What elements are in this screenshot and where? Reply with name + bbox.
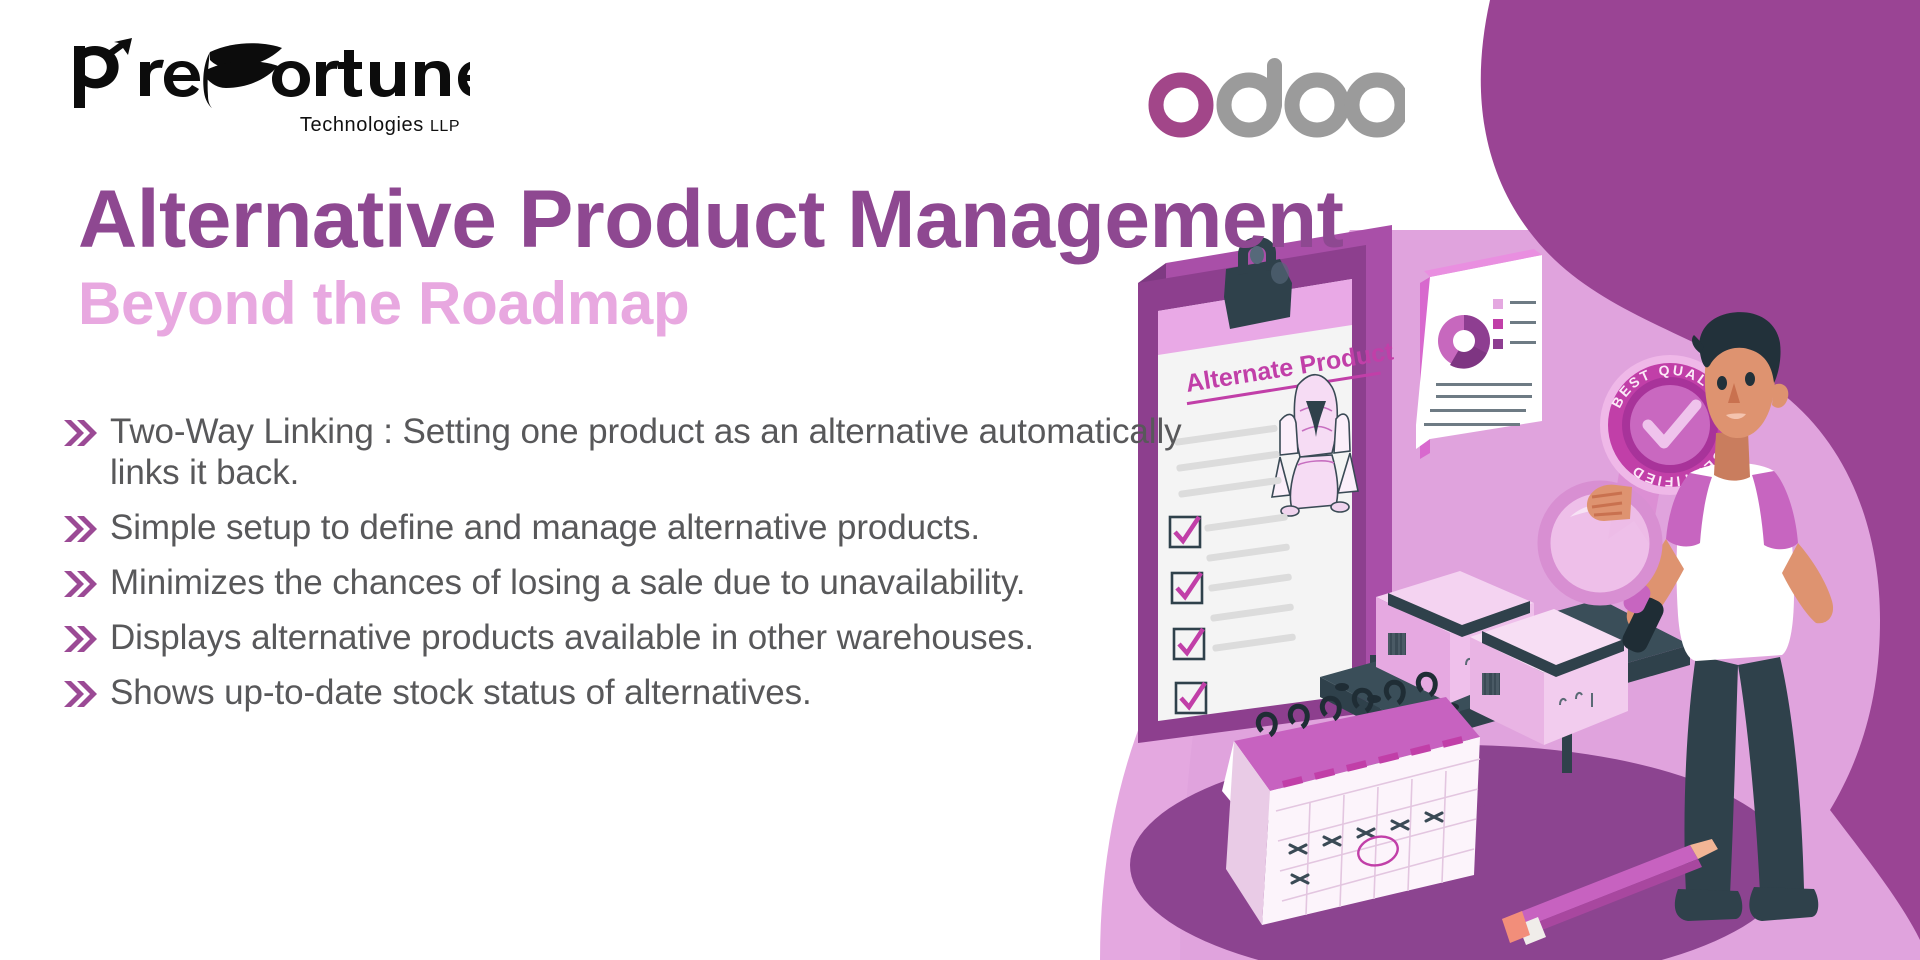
- odoo-logo[interactable]: [1145, 48, 1405, 138]
- prefortune-wordmark: [70, 34, 470, 106]
- leaf-f-mark: [203, 43, 282, 108]
- odoo-o3: [1352, 80, 1402, 130]
- feature-text: Minimizes the chances of losing a sale d…: [110, 563, 1025, 604]
- prefortune-tagline: Technologies LLP: [300, 114, 460, 137]
- list-item: Two-Way Linking : Setting one product as…: [62, 412, 1207, 494]
- tagline-suffix: LLP: [430, 118, 460, 135]
- list-item: Simple setup to define and manage altern…: [62, 508, 1207, 549]
- feature-text: Simple setup to define and manage altern…: [110, 508, 980, 549]
- feature-text: Displays alternative products available …: [110, 618, 1034, 659]
- double-chevron-icon: [62, 514, 102, 544]
- product-illustration: Alternate Product: [1130, 225, 1920, 960]
- odoo-o1: [1156, 80, 1206, 130]
- list-item: Displays alternative products available …: [62, 618, 1207, 659]
- double-chevron-icon: [62, 569, 102, 599]
- feature-list: Two-Way Linking : Setting one product as…: [62, 412, 1207, 714]
- double-chevron-icon: [62, 679, 102, 709]
- prefortune-logo[interactable]: Technologies LLP: [70, 34, 490, 144]
- page-subtitle: Beyond the Roadmap: [78, 272, 1478, 335]
- feature-text: Shows up-to-date stock status of alterna…: [110, 673, 812, 714]
- list-item: Minimizes the chances of losing a sale d…: [62, 563, 1207, 604]
- list-item: Shows up-to-date stock status of alterna…: [62, 673, 1207, 714]
- odoo-d: [1224, 58, 1282, 130]
- feature-text: Two-Way Linking : Setting one product as…: [110, 412, 1207, 494]
- page-title: Alternative Product Management: [78, 178, 1478, 262]
- tagline-text: Technologies: [300, 114, 424, 136]
- odoo-o2: [1292, 80, 1342, 130]
- double-chevron-icon: [62, 624, 102, 654]
- double-chevron-icon: [62, 418, 102, 448]
- headline-block: Alternative Product Management Beyond th…: [78, 178, 1478, 335]
- marketing-banner: Technologies LLP Alternative Product Man…: [0, 0, 1920, 960]
